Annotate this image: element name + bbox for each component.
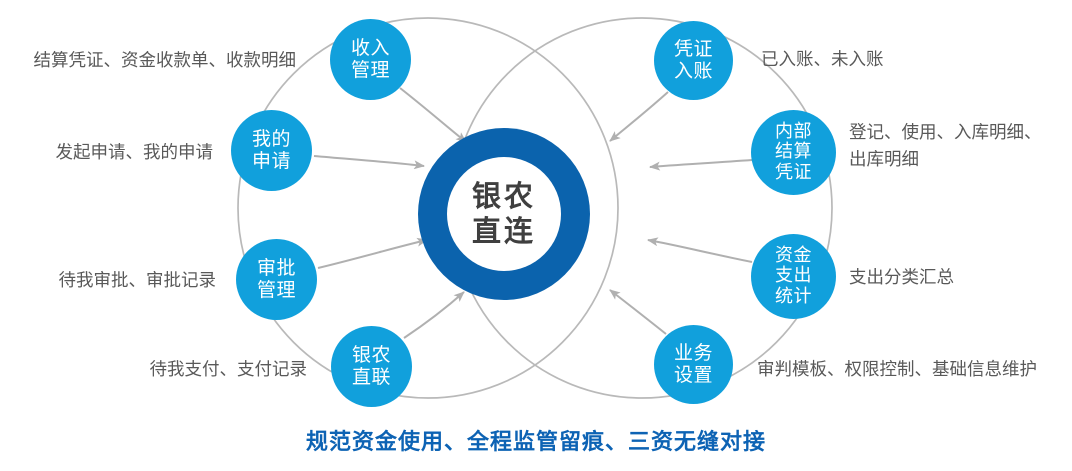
- hub-label-line-1: 银农: [472, 179, 536, 214]
- hub-inner: 银农直连: [447, 157, 561, 271]
- node-label-line-2: 支出: [775, 266, 812, 286]
- arrow-bank-farm-direct-link: [404, 292, 464, 338]
- node-label-line-1: 凭证: [674, 39, 713, 60]
- diagram-canvas: 银农直连 收入 管理 我的 申请 审批 管理 银农 直联 凭证 入账 内部 结算…: [0, 0, 1072, 471]
- node-label-line-2: 申请: [252, 151, 291, 172]
- node-voucher-posting[interactable]: 凭证 入账: [654, 21, 733, 100]
- arrow-approval-management: [318, 240, 427, 268]
- node-business-settings[interactable]: 业务 设置: [654, 325, 733, 404]
- node-bank-farm-direct-link[interactable]: 银农 直联: [331, 326, 412, 407]
- caption-bank-farm-direct-link: 待我支付、支付记录: [0, 357, 307, 384]
- node-fund-expenditure-statistics[interactable]: 资金 支出 统计: [751, 234, 836, 319]
- node-label-line-2: 管理: [257, 280, 296, 301]
- caption-fund-expenditure-statistics: 支出分类汇总: [849, 265, 1069, 292]
- node-my-application[interactable]: 我的 申请: [231, 110, 312, 191]
- caption-internal-settlement-voucher: 登记、使用、入库明细、 出库明细: [849, 120, 1069, 174]
- arrow-fund-expenditure-statistics: [648, 240, 752, 262]
- arrow-my-application: [314, 156, 424, 166]
- node-label-line-1: 资金: [775, 246, 812, 266]
- arrow-business-settings: [610, 290, 666, 334]
- node-label-line-1: 内部: [775, 122, 812, 142]
- caption-approval-management: 待我审批、审批记录: [0, 268, 216, 295]
- arrow-voucher-posting: [610, 92, 668, 141]
- node-label-line-2: 入账: [674, 61, 713, 82]
- caption-voucher-posting: 已入账、未入账: [761, 47, 1061, 74]
- caption-business-settings: 审判模板、权限控制、基础信息维护: [757, 357, 1072, 384]
- hub-ring: 银农直连: [418, 128, 590, 300]
- node-income-management[interactable]: 收入 管理: [330, 19, 411, 100]
- node-label-line-2: 结算: [775, 142, 812, 162]
- node-label-line-2: 直联: [352, 367, 391, 388]
- caption-my-application: 发起申请、我的申请: [0, 140, 213, 167]
- node-label-line-2: 管理: [351, 60, 390, 81]
- node-internal-settlement-voucher[interactable]: 内部 结算 凭证: [751, 110, 836, 195]
- arrow-internal-settlement-voucher: [650, 160, 752, 167]
- node-label-line-1: 业务: [674, 343, 713, 364]
- node-label-line-3: 统计: [775, 287, 812, 307]
- hub-label-line-2: 直连: [472, 214, 536, 249]
- node-approval-management[interactable]: 审批 管理: [236, 239, 317, 320]
- node-label-line-3: 凭证: [775, 163, 812, 183]
- caption-income-management: 结算凭证、资金收款单、收款明细: [0, 48, 296, 75]
- strapline: 规范资金使用、全程监管留痕、三资无缝对接: [0, 424, 1072, 456]
- node-label-line-1: 我的: [252, 129, 291, 150]
- node-label-line-1: 银农: [352, 345, 391, 366]
- node-label-line-1: 收入: [351, 38, 390, 59]
- node-label-line-1: 审批: [257, 258, 296, 279]
- arrow-income-management: [400, 88, 466, 142]
- node-label-line-2: 设置: [674, 365, 713, 386]
